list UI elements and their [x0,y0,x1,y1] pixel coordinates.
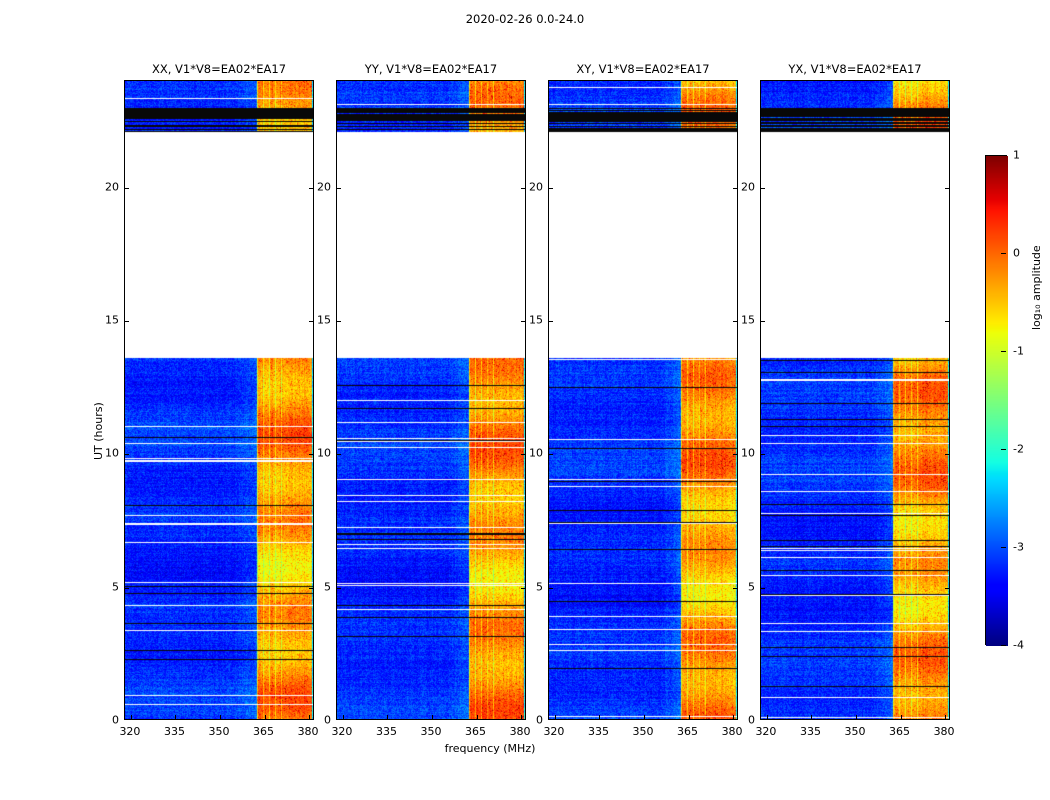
y-tick-mark [521,188,525,189]
x-tick-mark [387,715,388,719]
panel-title-yy: YY, V1*V8=EA02*EA17 [336,62,526,76]
y-tick-mark [309,454,313,455]
y-tick-mark [309,321,313,322]
x-tick-mark [644,715,645,719]
y-tick-mark [337,588,341,589]
y-tick-mark [733,188,737,189]
y-tick-mark [945,454,949,455]
y-tick-label: 15 [529,314,548,327]
x-tick-label: 350 [633,720,654,738]
x-tick-label: 335 [376,720,397,738]
x-tick-label: 380 [722,720,743,738]
x-tick-mark [175,715,176,719]
y-tick-label: 10 [317,447,336,460]
x-tick-mark [477,715,478,719]
x-tick-mark [309,715,310,719]
y-tick-label: 10 [529,447,548,460]
colorbar [985,155,1007,645]
spectrum-panel-yx: YX, V1*V8=EA02*EA17051015203203353503653… [760,80,950,720]
dynamic-spectrum-image [125,81,314,720]
y-tick-mark [337,454,341,455]
x-tick-mark [555,715,556,719]
x-tick-mark [811,715,812,719]
y-axis-label: UT (hours) [92,402,105,460]
colorbar-tick-label: 1 [1007,149,1020,162]
colorbar-tick-label: 0 [1007,247,1020,260]
y-tick-mark [761,588,765,589]
colorbar-tick-mark [1001,155,1006,156]
colorbar-tick-label: -2 [1007,443,1024,456]
y-tick-mark [733,321,737,322]
y-tick-mark [125,321,129,322]
y-tick-mark [945,588,949,589]
x-tick-label: 380 [510,720,531,738]
x-tick-mark [432,715,433,719]
x-tick-label: 365 [677,720,698,738]
y-tick-mark [125,188,129,189]
y-tick-label: 20 [105,180,124,193]
y-tick-mark [761,454,765,455]
x-tick-label: 350 [845,720,866,738]
colorbar-tick-mark [1001,645,1006,646]
colorbar-tick-label: -3 [1007,541,1024,554]
x-tick-label: 380 [298,720,319,738]
y-tick-label: 20 [741,180,760,193]
plot-area [760,80,950,720]
x-tick-label: 335 [800,720,821,738]
x-tick-label: 350 [421,720,442,738]
x-tick-mark [689,715,690,719]
y-tick-label: 5 [748,580,760,593]
x-tick-mark [220,715,221,719]
x-tick-mark [856,715,857,719]
x-tick-mark [131,715,132,719]
x-tick-label: 320 [119,720,140,738]
x-tick-mark [521,715,522,719]
colorbar-tick-label: -4 [1007,639,1024,652]
plot-area [336,80,526,720]
plot-area [124,80,314,720]
colorbar-tick-label: -1 [1007,345,1024,358]
y-tick-mark [125,454,129,455]
x-tick-label: 335 [164,720,185,738]
y-tick-label: 10 [105,447,124,460]
colorbar-tick-mark [1001,253,1006,254]
y-tick-label: 15 [105,314,124,327]
colorbar-label: log₁₀ amplitude [1030,245,1043,330]
x-tick-mark [901,715,902,719]
y-tick-mark [549,321,553,322]
x-tick-label: 365 [889,720,910,738]
x-tick-mark [767,715,768,719]
colorbar-tick-mark [1001,449,1006,450]
spectrum-panel-xy: XY, V1*V8=EA02*EA17051015203203353503653… [548,80,738,720]
y-tick-mark [761,188,765,189]
y-tick-label: 20 [317,180,336,193]
y-tick-mark [945,321,949,322]
dynamic-spectrum-image [549,81,738,720]
y-tick-label: 5 [324,580,336,593]
colorbar-tick-mark [1001,351,1006,352]
y-tick-mark [521,588,525,589]
x-tick-label: 335 [588,720,609,738]
y-tick-label: 5 [536,580,548,593]
y-tick-label: 10 [741,447,760,460]
x-tick-mark [945,715,946,719]
colorbar-tick-mark [1001,547,1006,548]
spectrum-panel-xx: XX, V1*V8=EA02*EA17051015203203353503653… [124,80,314,720]
y-tick-mark [761,321,765,322]
panel-title-xy: XY, V1*V8=EA02*EA17 [548,62,738,76]
y-tick-mark [521,321,525,322]
y-tick-mark [521,454,525,455]
y-tick-mark [309,588,313,589]
x-tick-label: 350 [209,720,230,738]
x-tick-label: 320 [755,720,776,738]
dynamic-spectrum-image [337,81,526,720]
x-tick-label: 320 [331,720,352,738]
x-tick-mark [343,715,344,719]
y-tick-label: 5 [112,580,124,593]
x-tick-mark [599,715,600,719]
dynamic-spectrum-image [761,81,950,720]
x-tick-label: 320 [543,720,564,738]
x-tick-label: 365 [465,720,486,738]
plot-area [548,80,738,720]
y-tick-label: 15 [741,314,760,327]
y-tick-label: 20 [529,180,548,193]
y-tick-mark [549,454,553,455]
y-tick-mark [945,188,949,189]
x-tick-label: 365 [253,720,274,738]
y-tick-label: 15 [317,314,336,327]
y-tick-mark [733,454,737,455]
x-tick-mark [733,715,734,719]
y-tick-mark [125,588,129,589]
y-tick-mark [309,188,313,189]
spectrum-panel-yy: YY, V1*V8=EA02*EA17051015203203353503653… [336,80,526,720]
x-tick-label: 380 [934,720,955,738]
y-tick-mark [549,588,553,589]
panel-title-xx: XX, V1*V8=EA02*EA17 [124,62,314,76]
y-tick-mark [337,321,341,322]
panel-title-yx: YX, V1*V8=EA02*EA17 [760,62,950,76]
figure-suptitle: 2020-02-26 0.0-24.0 [0,12,1050,26]
y-tick-mark [733,588,737,589]
x-tick-mark [265,715,266,719]
y-tick-mark [549,188,553,189]
x-axis-label: frequency (MHz) [280,742,700,755]
y-tick-mark [337,188,341,189]
